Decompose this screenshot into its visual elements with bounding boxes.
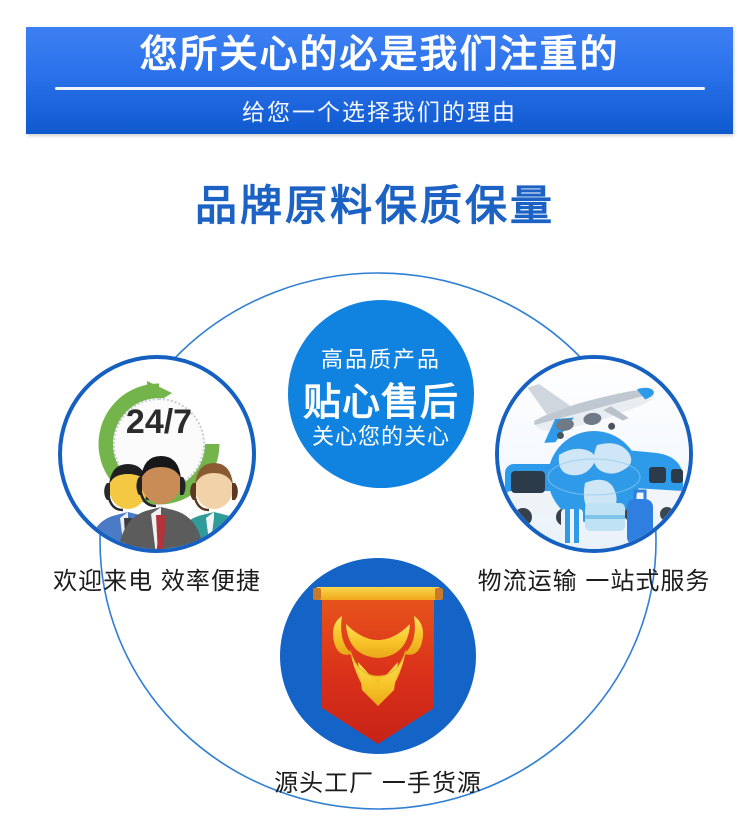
node-logistics[interactable]: 物流运输 一站式服务: [495, 355, 693, 553]
node-support-label: 欢迎来电 效率便捷: [53, 561, 261, 596]
node-logistics-ring: [495, 355, 693, 553]
agents-illustration: [68, 435, 254, 553]
feature-diagram: 24/7: [0, 255, 750, 815]
node-factory-label: 源头工厂 一手货源: [274, 763, 482, 798]
center-highlight-circle[interactable]: 高品质产品 贴心售后 关心您的关心: [288, 300, 474, 488]
plane-globe-transport-icon: [499, 359, 689, 549]
node-support[interactable]: 24/7: [58, 355, 256, 553]
banner-divider: [55, 87, 705, 90]
node-support-ring: 24/7: [58, 355, 256, 553]
node-logistics-label: 物流运输 一站式服务: [478, 561, 711, 596]
bull-shield-crest-icon: [280, 558, 476, 754]
section-heading: 品牌原料保质保量: [0, 172, 750, 233]
header-banner: 您所关心的必是我们注重的 给您一个选择我们的理由: [26, 27, 733, 134]
banner-title: 您所关心的必是我们注重的: [26, 34, 733, 78]
banner-subtitle: 给您一个选择我们的理由: [26, 93, 733, 127]
center-main-text: 贴心售后: [288, 371, 474, 426]
center-bottom-text: 关心您的关心: [288, 419, 474, 451]
node-factory-ring: [280, 558, 476, 754]
center-top-text: 高品质产品: [288, 342, 474, 374]
node-factory[interactable]: 源头工厂 一手货源: [280, 558, 476, 754]
promo-page: 您所关心的必是我们注重的 给您一个选择我们的理由 品牌原料保质保量 24/7: [0, 0, 750, 827]
